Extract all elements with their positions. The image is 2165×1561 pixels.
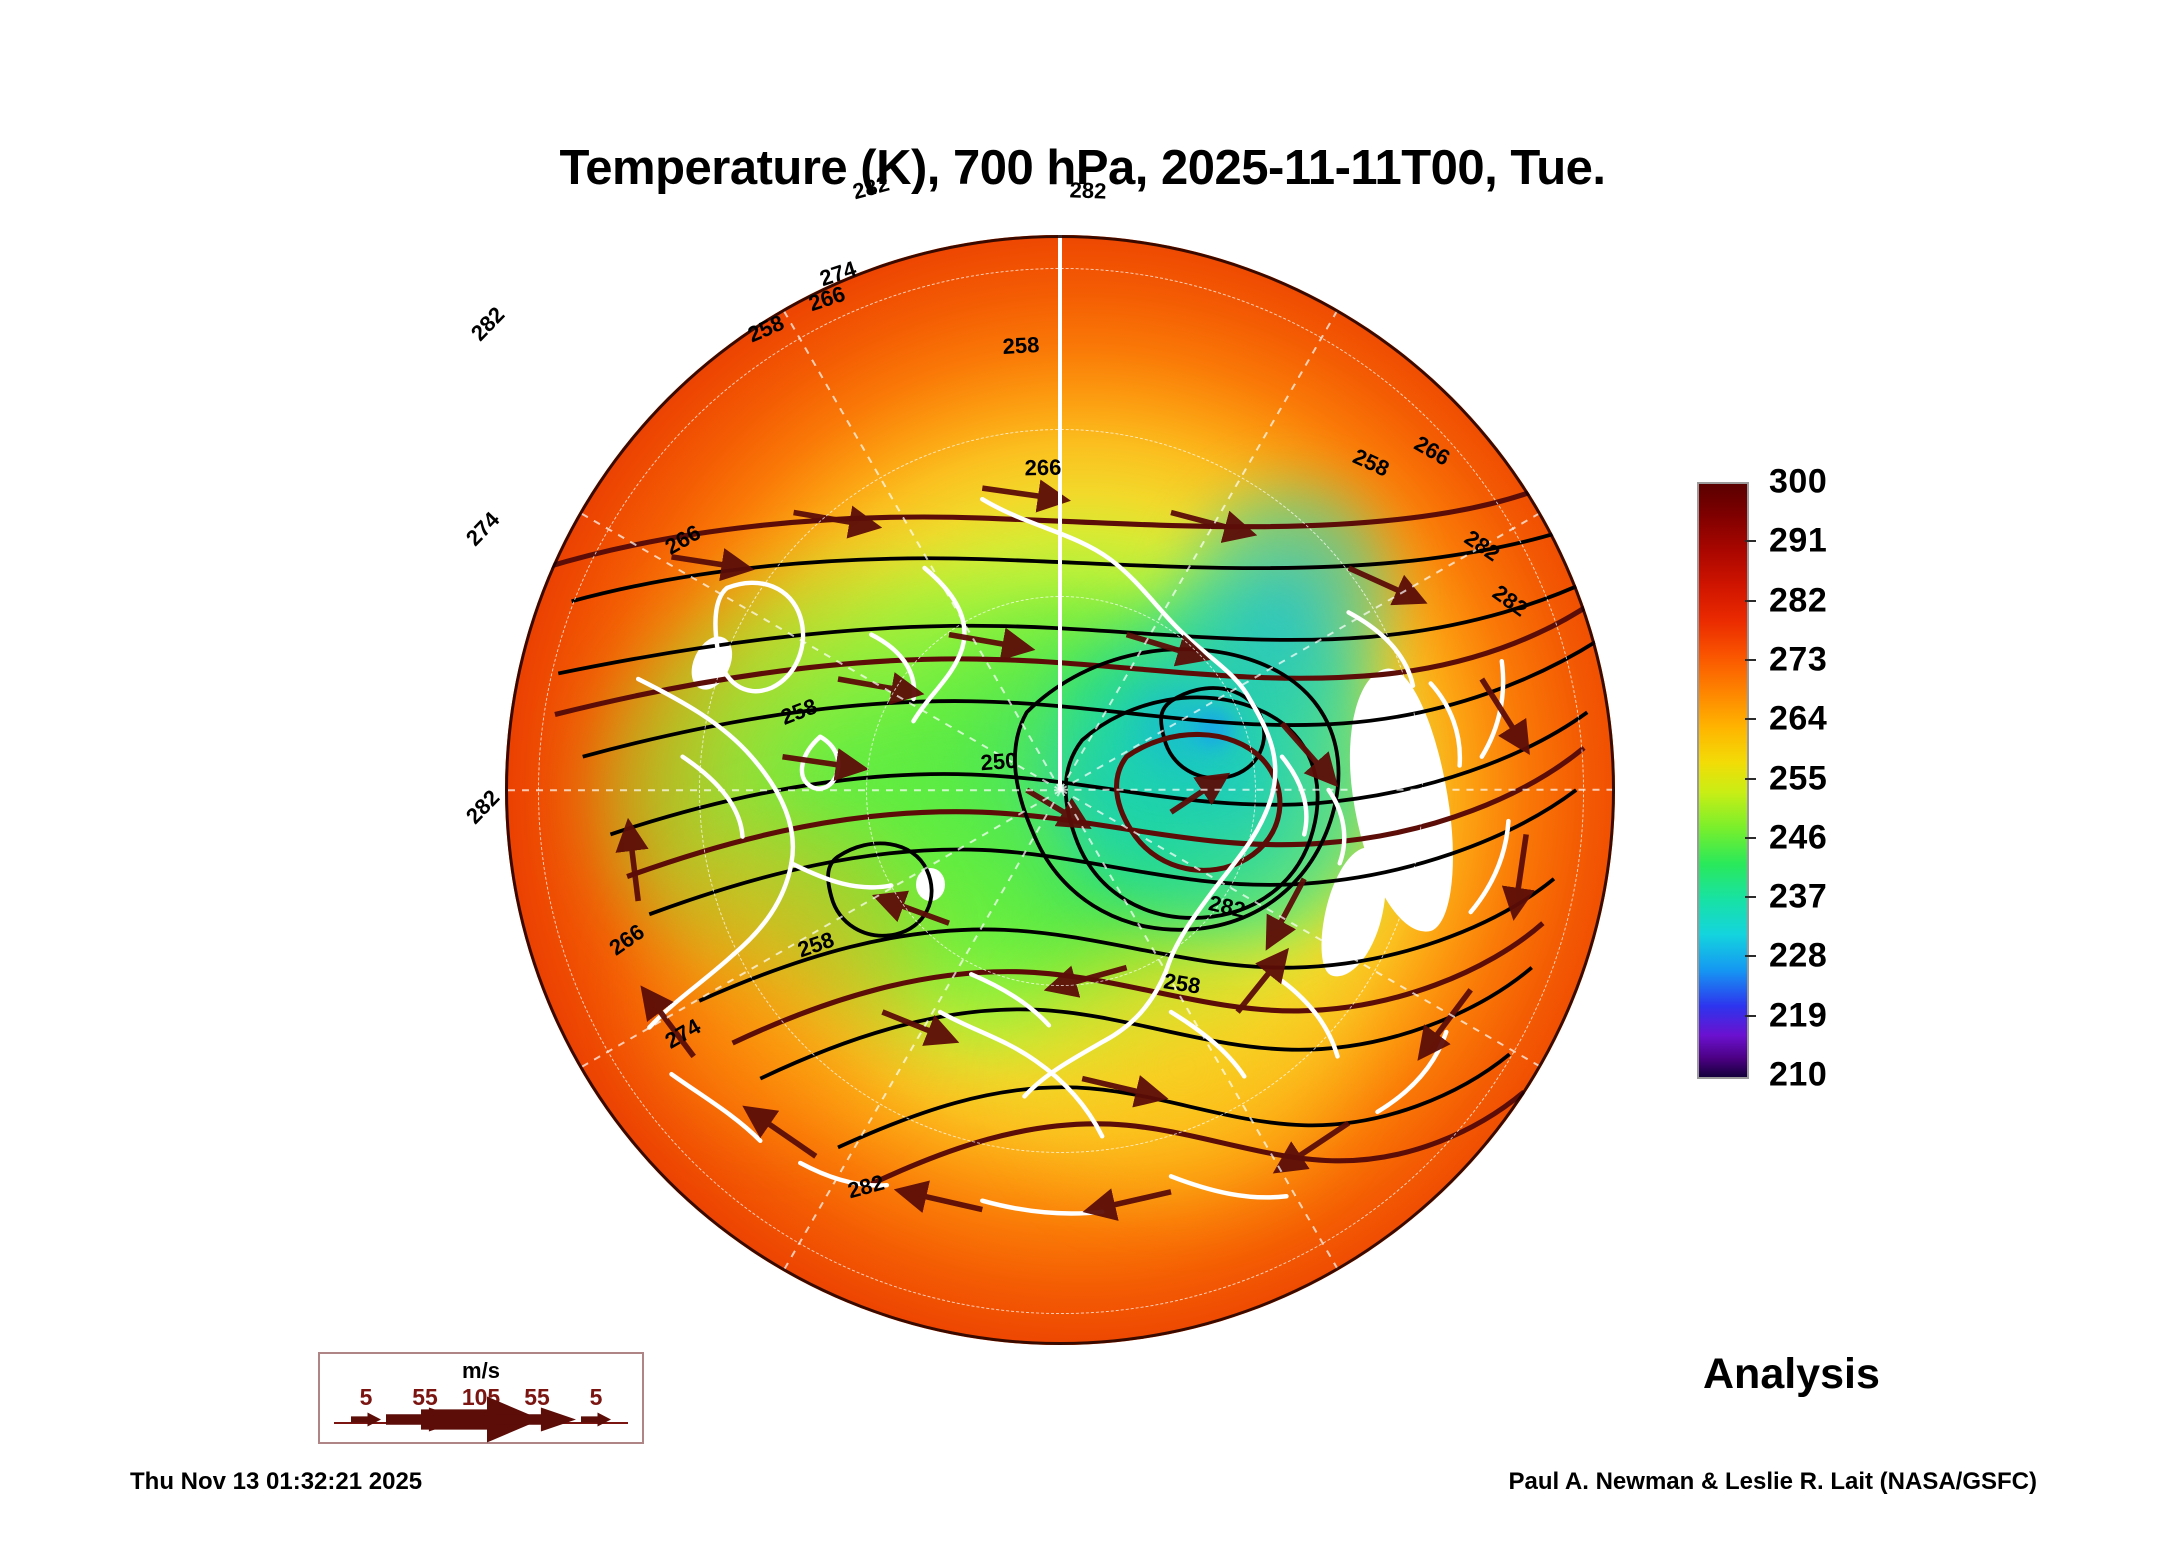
colorbar-label: 300 [1769,463,1827,502]
colorbar-label: 246 [1769,818,1827,857]
contour-label: 274 [461,507,505,551]
author-credit: Paul A. Newman & Leslie R. Lait (NASA/GS… [1508,1468,2037,1496]
colorbar-tick [1745,896,1756,898]
colorbar-label: 273 [1769,640,1827,679]
colorbar-label: 255 [1769,759,1827,798]
wind-key-value: 5 [360,1384,373,1411]
colorbar-tick [1745,540,1756,542]
colorbar-tick [1745,718,1756,720]
colorbar-label: 210 [1769,1056,1827,1095]
generation-timestamp: Thu Nov 13 01:32:21 2025 [130,1468,422,1496]
globe-disc [505,235,1615,1345]
colorbar-tick [1745,778,1756,780]
contour-label: 282 [1069,177,1107,204]
colorbar-tick [1745,600,1756,602]
colorbar-label: 264 [1769,700,1827,739]
contour-label: 258 [1002,332,1040,360]
contour-label: 282 [466,302,510,346]
wind-key-arrow [351,1413,381,1432]
colorbar: 300291282273264255246237228219210 [1697,482,1997,1082]
colorbar-label: 228 [1769,937,1827,976]
colorbar-tick [1745,837,1756,839]
colorbar-label: 282 [1769,581,1827,620]
colorbar-tick [1745,1015,1756,1017]
contour-label: 266 [1025,455,1062,482]
wind-key-arrow [498,1408,576,1437]
colorbar-label: 291 [1769,522,1827,561]
colorbar-label: 219 [1769,996,1827,1035]
polar-map: 2822822822822822822822822742742742662662… [505,235,1615,1345]
colorbar-tick [1745,659,1756,661]
globe-rim [505,235,1615,1345]
contour-label: 282 [461,784,505,828]
colorbar-label: 237 [1769,878,1827,917]
wind-key-unit-label: m/s [320,1358,642,1384]
colorbar-gradient [1697,482,1749,1079]
wind-speed-key: m/s 555105555 [318,1352,644,1444]
colorbar-tick [1745,955,1756,957]
wind-key-arrow [581,1413,611,1432]
contour-label: 250 [980,748,1018,776]
wind-key-value: 5 [590,1384,603,1411]
analysis-label: Analysis [1703,1350,1880,1399]
